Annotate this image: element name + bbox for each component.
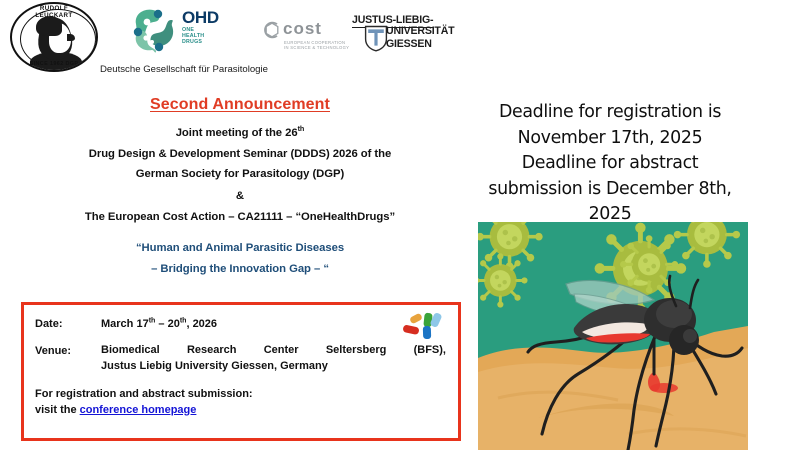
meeting-line-1: Joint meeting of the 26th [18, 123, 462, 144]
meeting-line-1-text: Joint meeting of the 26 [176, 127, 298, 139]
deadline-line-3: Deadline for abstract [430, 151, 790, 177]
theme-line-2: – Bridging the Innovation Gap – “ [18, 259, 462, 280]
date-row: Date: March 17th – 20th, 2026 [35, 316, 448, 333]
conference-homepage-link[interactable]: conference homepage [80, 404, 197, 416]
details-content: Date: March 17th – 20th, 2026 Venue: Bio… [35, 316, 448, 418]
cost-sub-line2: IN SCIENCE & TECHNOLOGY [284, 45, 350, 50]
logo-row: RUDOLF LEUCKART SINCE 1962 DGP [0, 0, 800, 92]
seal-text-ring: RUDOLF LEUCKART SINCE 1962 DGP [8, 2, 100, 74]
venue-label: Venue: [35, 343, 101, 374]
slide-canvas: RUDOLF LEUCKART SINCE 1962 DGP [0, 0, 800, 450]
jlu-shield-icon [364, 25, 388, 52]
ohd-word: OHD [182, 10, 244, 26]
ohd-subtext: ONE HEALTH DRUGS [182, 27, 244, 45]
mosquito-illustration [478, 222, 748, 450]
date-value-mid: – 20 [155, 318, 179, 330]
deadline-text: Deadline for registration is November 17… [430, 100, 790, 228]
announcement-title-wrap: Second Announcement [18, 92, 462, 123]
cost-hexagon-icon [262, 20, 282, 40]
details-box: Date: March 17th – 20th, 2026 Venue: Bio… [21, 302, 461, 441]
date-value-post: , 2026 [186, 318, 217, 330]
announcement-block: Second Announcement Joint meeting of the… [18, 92, 462, 280]
ohd-circular-mark-icon [128, 6, 180, 56]
cost-logo: cost EUROPEAN COOPERATION IN SCIENCE & T… [262, 20, 350, 58]
ohd-logo: OHD ONE HEALTH DRUGS [128, 6, 244, 58]
theme-line-1: “Human and Animal Parasitic Diseases [18, 238, 462, 259]
deadline-line-2: November 17th, 2025 [430, 126, 790, 152]
dgp-seal-logo: RUDOLF LEUCKART SINCE 1962 DGP [8, 2, 104, 74]
venue-row: Venue: Biomedical Research Center Selter… [35, 343, 448, 374]
announcement-title: Second Announcement [150, 96, 330, 114]
seal-top-text: RUDOLF LEUCKART [22, 5, 86, 19]
ohd-sub-drugs: DRUGS [182, 39, 244, 45]
deadline-line-1: Deadline for registration is [430, 100, 790, 126]
deadline-line-4: submission is December 8th, [430, 177, 790, 203]
ordinal-suffix: th [298, 124, 305, 133]
date-label: Date: [35, 316, 101, 333]
jlu-logo: JUSTUS-LIEBIG- UNIVERSITÄT GIESSEN [352, 10, 460, 60]
meeting-line-2: Drug Design & Development Seminar (DDDS)… [18, 144, 462, 165]
jlu-line2: UNIVERSITÄT [386, 25, 454, 38]
ohd-wordmark: OHD ONE HEALTH DRUGS [182, 10, 244, 45]
society-caption: Deutsche Gesellschaft für Parasitologie [100, 64, 268, 75]
registration-line: For registration and abstract submission… [35, 387, 448, 403]
venue-value: Biomedical Research Center Seltersberg (… [101, 343, 446, 374]
jlu-line3: GIESSEN [386, 38, 432, 51]
visit-line: visit the conference homepage [35, 403, 448, 419]
venue-line-1: Biomedical Research Center Seltersberg (… [101, 343, 446, 359]
date-value-pre: March 17 [101, 318, 149, 330]
meeting-line-3: German Society for Parasitology (DGP) [18, 164, 462, 185]
meeting-line-4: The European Cost Action – CA21111 – “On… [18, 207, 462, 228]
visit-prefix: visit the [35, 404, 80, 416]
date-value: March 17th – 20th, 2026 [101, 316, 217, 333]
venue-line-2: Justus Liebig University Giessen, German… [101, 359, 446, 375]
registration-block: For registration and abstract submission… [35, 387, 448, 418]
cost-word: cost [283, 20, 322, 38]
seal-bottom-text: SINCE 1962 DGP [22, 61, 86, 67]
theme-block: “Human and Animal Parasitic Diseases – B… [18, 238, 462, 280]
cost-subtext: EUROPEAN COOPERATION IN SCIENCE & TECHNO… [284, 40, 350, 50]
meeting-ampersand: & [18, 185, 462, 207]
